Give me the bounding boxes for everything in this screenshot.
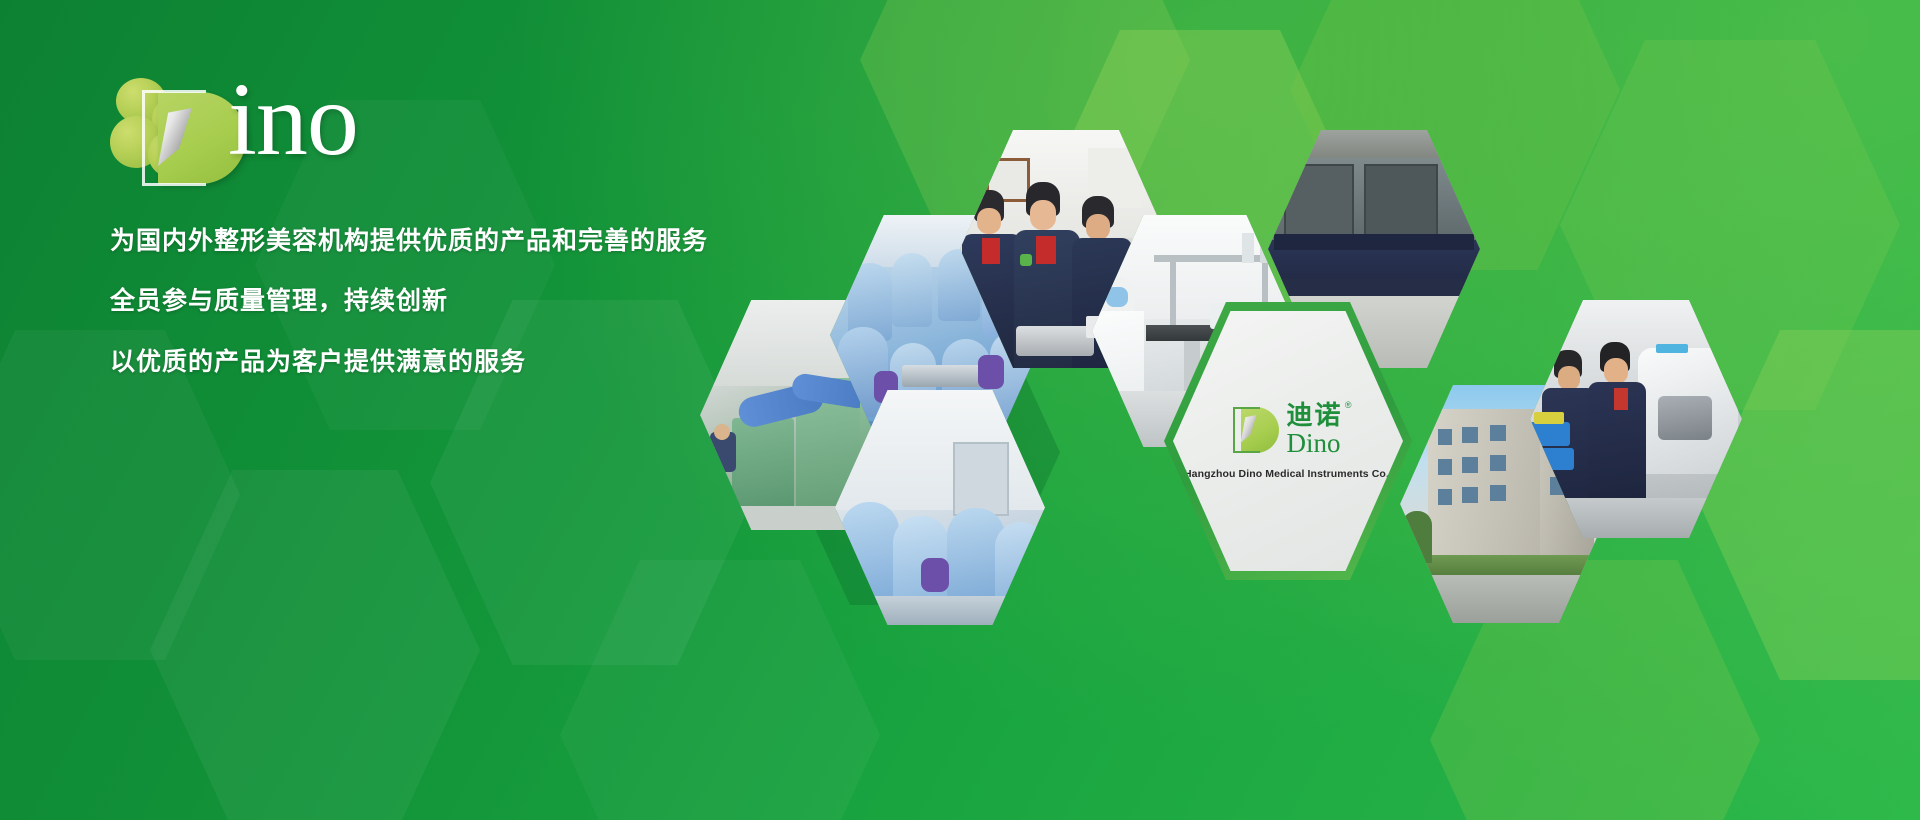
center-brand-lockup: 迪诺 ® Dino <box>1233 402 1342 457</box>
promotional-banner: ino 为国内外整形美容机构提供优质的产品和完善的服务 全员参与质量管理，持续创… <box>0 0 1920 820</box>
dino-mark-icon <box>1233 407 1279 453</box>
slogan-line-1: 为国内外整形美容机构提供优质的产品和完善的服务 <box>110 228 870 254</box>
registered-mark-icon: ® <box>1345 401 1354 410</box>
logo-wordmark: ino <box>228 68 358 172</box>
brand-chinese-name: 迪诺 ® <box>1286 402 1342 428</box>
center-logo-hexagon: 迪诺 ® Dino Hangzhou Dino Medical Instrume… <box>1164 302 1412 580</box>
banner-content: ino 为国内外整形美容机构提供优质的产品和完善的服务 全员参与质量管理，持续创… <box>110 62 870 409</box>
company-caption: Hangzhou Dino Medical Instruments Co.. <box>1184 468 1392 480</box>
brand-english-name: Dino <box>1286 429 1340 457</box>
brand-chinese-text: 迪诺 <box>1286 400 1342 430</box>
slogan-line-3: 以优质的产品为客户提供满意的服务 <box>110 349 870 375</box>
dino-logo: ino <box>110 62 410 182</box>
slogan-line-2: 全员参与质量管理，持续创新 <box>110 288 870 314</box>
slogan-list: 为国内外整形美容机构提供优质的产品和完善的服务 全员参与质量管理，持续创新 以优… <box>110 228 870 375</box>
